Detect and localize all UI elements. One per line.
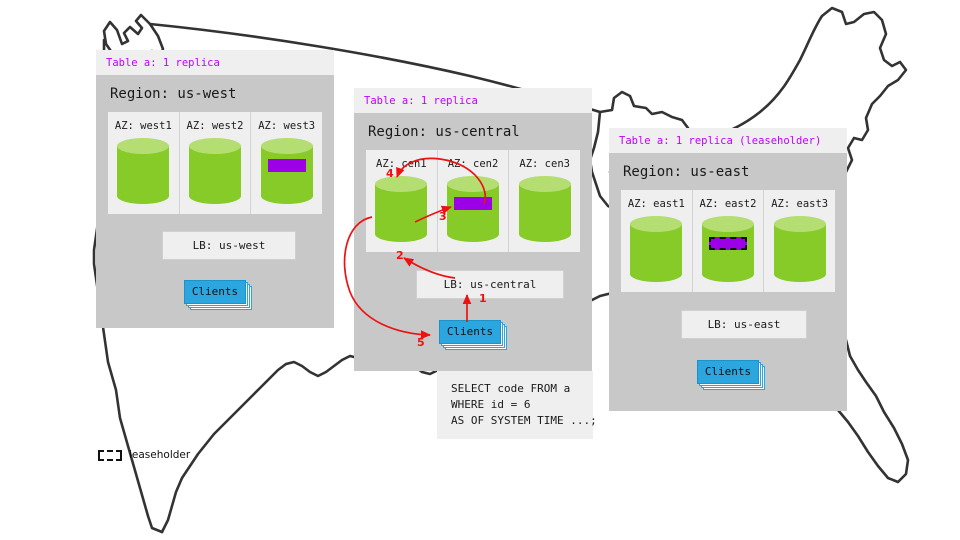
node-cylinder-east2[interactable] (702, 216, 754, 282)
region-header-us-west: Table a: 1 replica (96, 50, 334, 75)
az-cell-cen2[interactable]: AZ: cen2 (438, 150, 510, 252)
step-label-4: 4 (386, 167, 394, 180)
az-label-east2: AZ: east2 (693, 198, 764, 210)
replica-marker-west3 (268, 159, 306, 172)
sql-line-1: SELECT code FROM a (451, 382, 570, 395)
cylinder-top (189, 138, 241, 154)
clients-label-us-central: Clients (439, 320, 501, 344)
node-cylinder-cen3[interactable] (519, 176, 571, 242)
step-label-1: 1 (479, 292, 487, 305)
region-title-us-west: Region: us-west (96, 75, 334, 112)
clients-stack-us-west[interactable]: Clients (184, 280, 246, 304)
step-label-3: 3 (439, 210, 447, 223)
node-cylinder-west3[interactable] (261, 138, 313, 204)
az-cell-cen1[interactable]: AZ: cen1 (366, 150, 438, 252)
az-row-us-east: AZ: east1 AZ: east2 AZ: east3 (621, 190, 835, 292)
az-row-us-west: AZ: west1 AZ: west2 AZ: west3 (108, 112, 322, 214)
node-cylinder-west2[interactable] (189, 138, 241, 204)
az-label-west2: AZ: west2 (180, 120, 251, 132)
az-label-west1: AZ: west1 (108, 120, 179, 132)
az-label-east3: AZ: east3 (764, 198, 835, 210)
region-header-us-central: Table a: 1 replica (354, 88, 592, 113)
diagram-canvas: Table a: 1 replica Region: us-west AZ: w… (0, 0, 960, 540)
sql-line-2: WHERE id = 6 (451, 398, 530, 411)
cylinder-top (447, 176, 499, 192)
clients-label-us-west: Clients (184, 280, 246, 304)
replica-marker-cen2 (454, 197, 492, 210)
az-label-east1: AZ: east1 (621, 198, 692, 210)
leaseholder-swatch-icon (98, 450, 122, 461)
node-cylinder-east3[interactable] (774, 216, 826, 282)
node-cylinder-west1[interactable] (117, 138, 169, 204)
load-balancer-us-west[interactable]: LB: us-west (162, 231, 296, 260)
az-label-cen2: AZ: cen2 (438, 158, 509, 170)
az-cell-east3[interactable]: AZ: east3 (764, 190, 835, 292)
node-cylinder-east1[interactable] (630, 216, 682, 282)
cylinder-top (702, 216, 754, 232)
step-label-5: 5 (417, 336, 425, 349)
cylinder-top (261, 138, 313, 154)
clients-stack-us-east[interactable]: Clients (697, 360, 759, 384)
region-title-us-east: Region: us-east (609, 153, 847, 190)
az-cell-west3[interactable]: AZ: west3 (251, 112, 322, 214)
az-row-us-central: AZ: cen1 AZ: cen2 AZ: cen3 (366, 150, 580, 252)
legend-label: leaseholder (129, 449, 190, 461)
region-header-us-east: Table a: 1 replica (leaseholder) (609, 128, 847, 153)
cylinder-top (774, 216, 826, 232)
az-label-west3: AZ: west3 (251, 120, 322, 132)
step-label-2: 2 (396, 249, 404, 262)
clients-stack-us-central[interactable]: Clients (439, 320, 501, 344)
az-cell-east1[interactable]: AZ: east1 (621, 190, 693, 292)
cylinder-top (519, 176, 571, 192)
az-cell-cen3[interactable]: AZ: cen3 (509, 150, 580, 252)
cylinder-top (630, 216, 682, 232)
region-panel-us-west: Table a: 1 replica Region: us-west AZ: w… (96, 50, 334, 328)
az-cell-west1[interactable]: AZ: west1 (108, 112, 180, 214)
region-panel-us-east: Table a: 1 replica (leaseholder) Region:… (609, 128, 847, 411)
load-balancer-us-central[interactable]: LB: us-central (416, 270, 564, 299)
sql-line-3: AS OF SYSTEM TIME ...; (451, 414, 597, 427)
az-cell-east2[interactable]: AZ: east2 (693, 190, 765, 292)
az-label-cen3: AZ: cen3 (509, 158, 580, 170)
load-balancer-us-east[interactable]: LB: us-east (681, 310, 807, 339)
region-panel-us-central: Table a: 1 replica Region: us-central AZ… (354, 88, 592, 371)
region-title-us-central: Region: us-central (354, 113, 592, 150)
sql-statement-box: SELECT code FROM a WHERE id = 6 AS OF SY… (437, 371, 593, 439)
az-cell-west2[interactable]: AZ: west2 (180, 112, 252, 214)
legend: leaseholder (98, 449, 190, 461)
node-cylinder-cen1[interactable] (375, 176, 427, 242)
cylinder-top (375, 176, 427, 192)
az-label-cen1: AZ: cen1 (366, 158, 437, 170)
clients-label-us-east: Clients (697, 360, 759, 384)
cylinder-top (117, 138, 169, 154)
leaseholder-replica-marker-east2 (709, 237, 747, 250)
node-cylinder-cen2[interactable] (447, 176, 499, 242)
